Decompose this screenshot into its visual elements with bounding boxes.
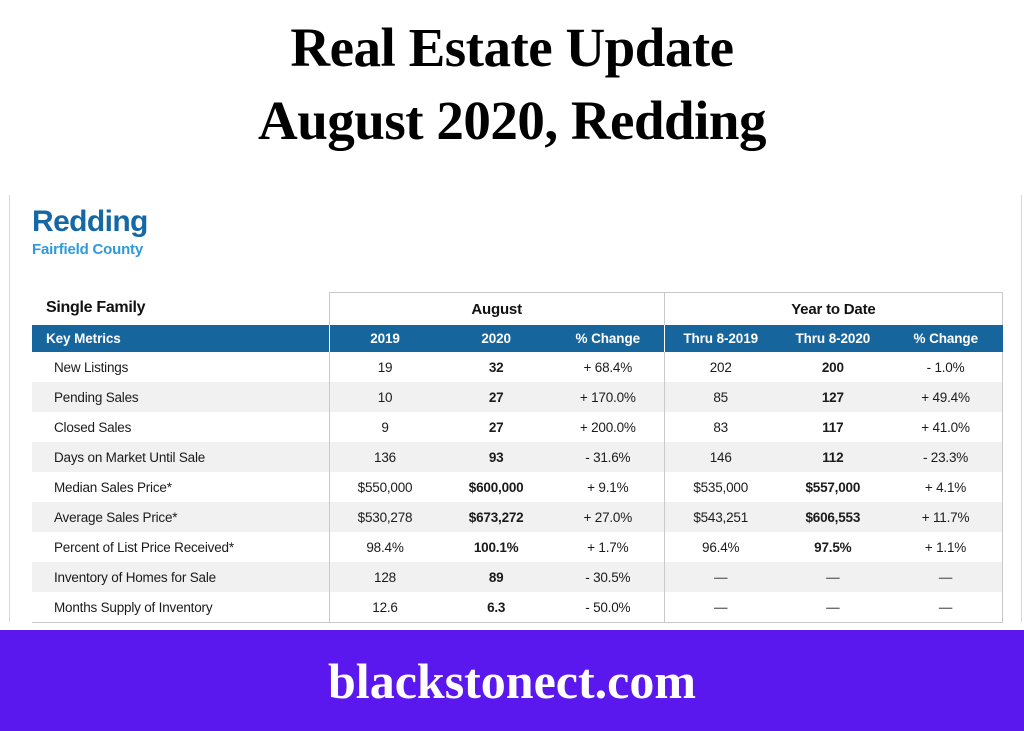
table-row: Average Sales Price*$530,278$673,272+ 27… (32, 502, 1003, 532)
table-row: Months Supply of Inventory12.66.3- 50.0%… (32, 592, 1003, 623)
row-cell-aug-2019: 19 (329, 352, 440, 382)
metrics-table-body: New Listings1932+ 68.4%202200- 1.0%Pendi… (32, 352, 1003, 623)
row-cell-aug-change: + 9.1% (552, 472, 664, 502)
column-header-aug-2020: 2020 (440, 325, 551, 352)
row-cell-ytd-change: — (889, 562, 1002, 592)
column-header-aug-change: % Change (552, 325, 664, 352)
row-metric-label: Months Supply of Inventory (32, 592, 329, 623)
no-data-dash: — (939, 570, 952, 585)
row-cell-ytd-2020: $606,553 (777, 502, 889, 532)
row-cell-ytd-2020: 97.5% (777, 532, 889, 562)
report-card: Redding Fairfield County Single Family A… (9, 195, 1022, 622)
row-cell-ytd-2020: 112 (777, 442, 889, 472)
row-cell-ytd-change: + 4.1% (889, 472, 1002, 502)
row-cell-ytd-2019: 202 (664, 352, 776, 382)
row-cell-aug-2019: $530,278 (329, 502, 440, 532)
row-cell-aug-2019: 136 (329, 442, 440, 472)
row-cell-aug-change: + 200.0% (552, 412, 664, 442)
row-cell-aug-2020: $600,000 (440, 472, 551, 502)
row-cell-ytd-change: + 11.7% (889, 502, 1002, 532)
row-cell-aug-change: - 31.6% (552, 442, 664, 472)
row-metric-label: Pending Sales (32, 382, 329, 412)
table-row: Days on Market Until Sale13693- 31.6%146… (32, 442, 1003, 472)
no-data-dash: — (826, 600, 839, 615)
table-row: Pending Sales1027+ 170.0%85127+ 49.4% (32, 382, 1003, 412)
row-cell-ytd-change: + 49.4% (889, 382, 1002, 412)
no-data-dash: — (714, 600, 727, 615)
group-header-august: August (329, 293, 664, 326)
row-cell-ytd-2019: 146 (664, 442, 776, 472)
row-cell-aug-2019: 98.4% (329, 532, 440, 562)
row-cell-ytd-2019: $535,000 (664, 472, 776, 502)
table-row: Inventory of Homes for Sale12889- 30.5%—… (32, 562, 1003, 592)
page-title-line-1: Real Estate Update (0, 18, 1024, 77)
row-metric-label: New Listings (32, 352, 329, 382)
no-data-dash: — (826, 570, 839, 585)
row-cell-aug-2020: 6.3 (440, 592, 551, 623)
metrics-table: Single Family August Year to Date Key Me… (32, 292, 1003, 623)
column-header-ytd-2019: Thru 8-2019 (664, 325, 776, 352)
row-cell-ytd-2019: 96.4% (664, 532, 776, 562)
row-cell-ytd-2020: 117 (777, 412, 889, 442)
column-header-ytd-2020: Thru 8-2020 (777, 325, 889, 352)
row-metric-label: Percent of List Price Received* (32, 532, 329, 562)
row-cell-aug-2019: 9 (329, 412, 440, 442)
row-metric-label: Average Sales Price* (32, 502, 329, 532)
group-header-row: Single Family August Year to Date (32, 293, 1003, 326)
section-title: Single Family (32, 293, 329, 326)
row-cell-aug-2020: 27 (440, 382, 551, 412)
row-cell-aug-2020: 100.1% (440, 532, 551, 562)
row-cell-aug-change: + 170.0% (552, 382, 664, 412)
row-metric-label: Median Sales Price* (32, 472, 329, 502)
table-row: Percent of List Price Received*98.4%100.… (32, 532, 1003, 562)
row-cell-aug-2020: 32 (440, 352, 551, 382)
row-cell-aug-change: - 50.0% (552, 592, 664, 623)
no-data-dash: — (714, 570, 727, 585)
row-cell-aug-2019: 128 (329, 562, 440, 592)
row-cell-ytd-change: + 1.1% (889, 532, 1002, 562)
brand-subtitle: Fairfield County (32, 241, 1021, 258)
row-cell-ytd-2019: 83 (664, 412, 776, 442)
row-metric-label: Days on Market Until Sale (32, 442, 329, 472)
table-row: New Listings1932+ 68.4%202200- 1.0% (32, 352, 1003, 382)
row-cell-ytd-2020: — (777, 562, 889, 592)
row-cell-ytd-2019: 85 (664, 382, 776, 412)
column-header-aug-2019: 2019 (329, 325, 440, 352)
row-cell-ytd-2020: — (777, 592, 889, 623)
row-cell-ytd-2019: — (664, 562, 776, 592)
row-cell-ytd-change: - 23.3% (889, 442, 1002, 472)
no-data-dash: — (939, 600, 952, 615)
row-cell-ytd-change: — (889, 592, 1002, 623)
metrics-table-head: Single Family August Year to Date Key Me… (32, 293, 1003, 353)
footer-website: blackstonect.com (328, 656, 696, 706)
footer-banner: blackstonect.com (0, 630, 1024, 731)
row-cell-ytd-2020: $557,000 (777, 472, 889, 502)
row-cell-ytd-2020: 127 (777, 382, 889, 412)
row-cell-ytd-change: + 41.0% (889, 412, 1002, 442)
table-row: Closed Sales927+ 200.0%83117+ 41.0% (32, 412, 1003, 442)
table-row: Median Sales Price*$550,000$600,000+ 9.1… (32, 472, 1003, 502)
row-cell-ytd-2019: $543,251 (664, 502, 776, 532)
group-header-year-to-date: Year to Date (664, 293, 1002, 326)
row-cell-ytd-2019: — (664, 592, 776, 623)
brand-name: Redding (32, 205, 1021, 238)
row-cell-aug-change: + 27.0% (552, 502, 664, 532)
row-cell-aug-change: + 1.7% (552, 532, 664, 562)
row-metric-label: Closed Sales (32, 412, 329, 442)
brand-block: Redding Fairfield County (10, 195, 1021, 258)
row-cell-aug-2019: $550,000 (329, 472, 440, 502)
row-cell-aug-change: + 68.4% (552, 352, 664, 382)
row-cell-aug-2019: 10 (329, 382, 440, 412)
row-cell-ytd-2020: 200 (777, 352, 889, 382)
column-header-key-metrics: Key Metrics (32, 325, 329, 352)
row-cell-aug-2020: 93 (440, 442, 551, 472)
row-metric-label: Inventory of Homes for Sale (32, 562, 329, 592)
row-cell-aug-2020: 89 (440, 562, 551, 592)
column-header-ytd-change: % Change (889, 325, 1002, 352)
metrics-table-wrapper: Single Family August Year to Date Key Me… (32, 292, 1003, 623)
row-cell-aug-2019: 12.6 (329, 592, 440, 623)
row-cell-aug-2020: $673,272 (440, 502, 551, 532)
row-cell-aug-2020: 27 (440, 412, 551, 442)
row-cell-ytd-change: - 1.0% (889, 352, 1002, 382)
row-cell-aug-change: - 30.5% (552, 562, 664, 592)
page-title-line-2: August 2020, Redding (0, 91, 1024, 150)
column-header-row: Key Metrics 2019 2020 % Change Thru 8-20… (32, 325, 1003, 352)
page-title-block: Real Estate Update August 2020, Redding (0, 0, 1024, 151)
